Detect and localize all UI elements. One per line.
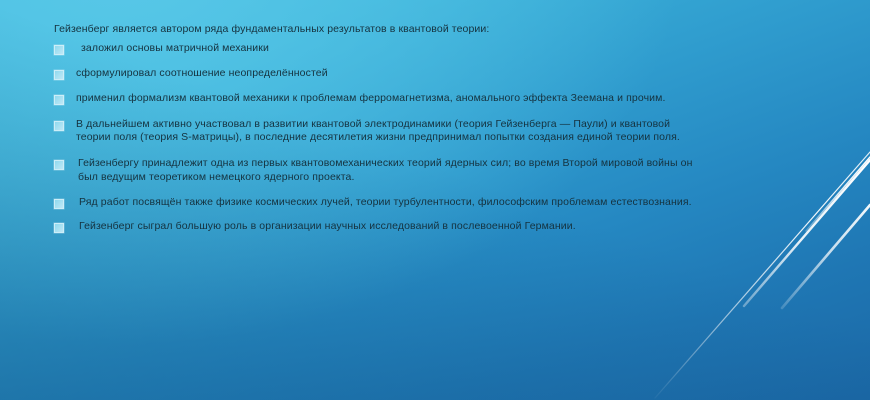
list-item: Ряд работ посвящён также физике космичес… bbox=[54, 196, 694, 210]
square-bullet-icon bbox=[54, 70, 64, 80]
presentation-slide: Гейзенберг является автором ряда фундаме… bbox=[0, 0, 870, 400]
list-item-text: Гейзенберг сыграл большую роль в организ… bbox=[68, 220, 694, 234]
square-bullet-icon bbox=[54, 45, 64, 55]
list-item: Гейзенберг сыграл большую роль в организ… bbox=[54, 220, 694, 234]
list-item: Гейзенбергу принадлежит одна из первых к… bbox=[54, 157, 694, 184]
list-item-text: применил формализм квантовой механики к … bbox=[68, 92, 694, 106]
square-bullet-icon bbox=[54, 223, 64, 233]
list-item-text: заложил основы матричной механики bbox=[68, 42, 694, 56]
list-item: заложил основы матричной механики bbox=[54, 42, 694, 56]
list-item-text: Гейзенбергу принадлежит одна из первых к… bbox=[68, 157, 694, 184]
list-item-text: Ряд работ посвящён также физике космичес… bbox=[68, 196, 694, 210]
square-bullet-icon bbox=[54, 160, 64, 170]
square-bullet-icon bbox=[54, 199, 64, 209]
bullet-list: заложил основы матричной механики сформу… bbox=[54, 42, 694, 242]
intro-paragraph: Гейзенберг является автором ряда фундаме… bbox=[54, 22, 654, 36]
list-item-text: сформулировал соотношение неопределённос… bbox=[68, 67, 694, 81]
list-item-text: В дальнейшем активно участвовал в развит… bbox=[68, 118, 694, 145]
square-bullet-icon bbox=[54, 95, 64, 105]
slide-content: Гейзенберг является автором ряда фундаме… bbox=[0, 0, 870, 400]
list-item: сформулировал соотношение неопределённос… bbox=[54, 67, 694, 81]
square-bullet-icon bbox=[54, 121, 64, 131]
list-item: В дальнейшем активно участвовал в развит… bbox=[54, 118, 694, 145]
list-item: применил формализм квантовой механики к … bbox=[54, 92, 694, 106]
